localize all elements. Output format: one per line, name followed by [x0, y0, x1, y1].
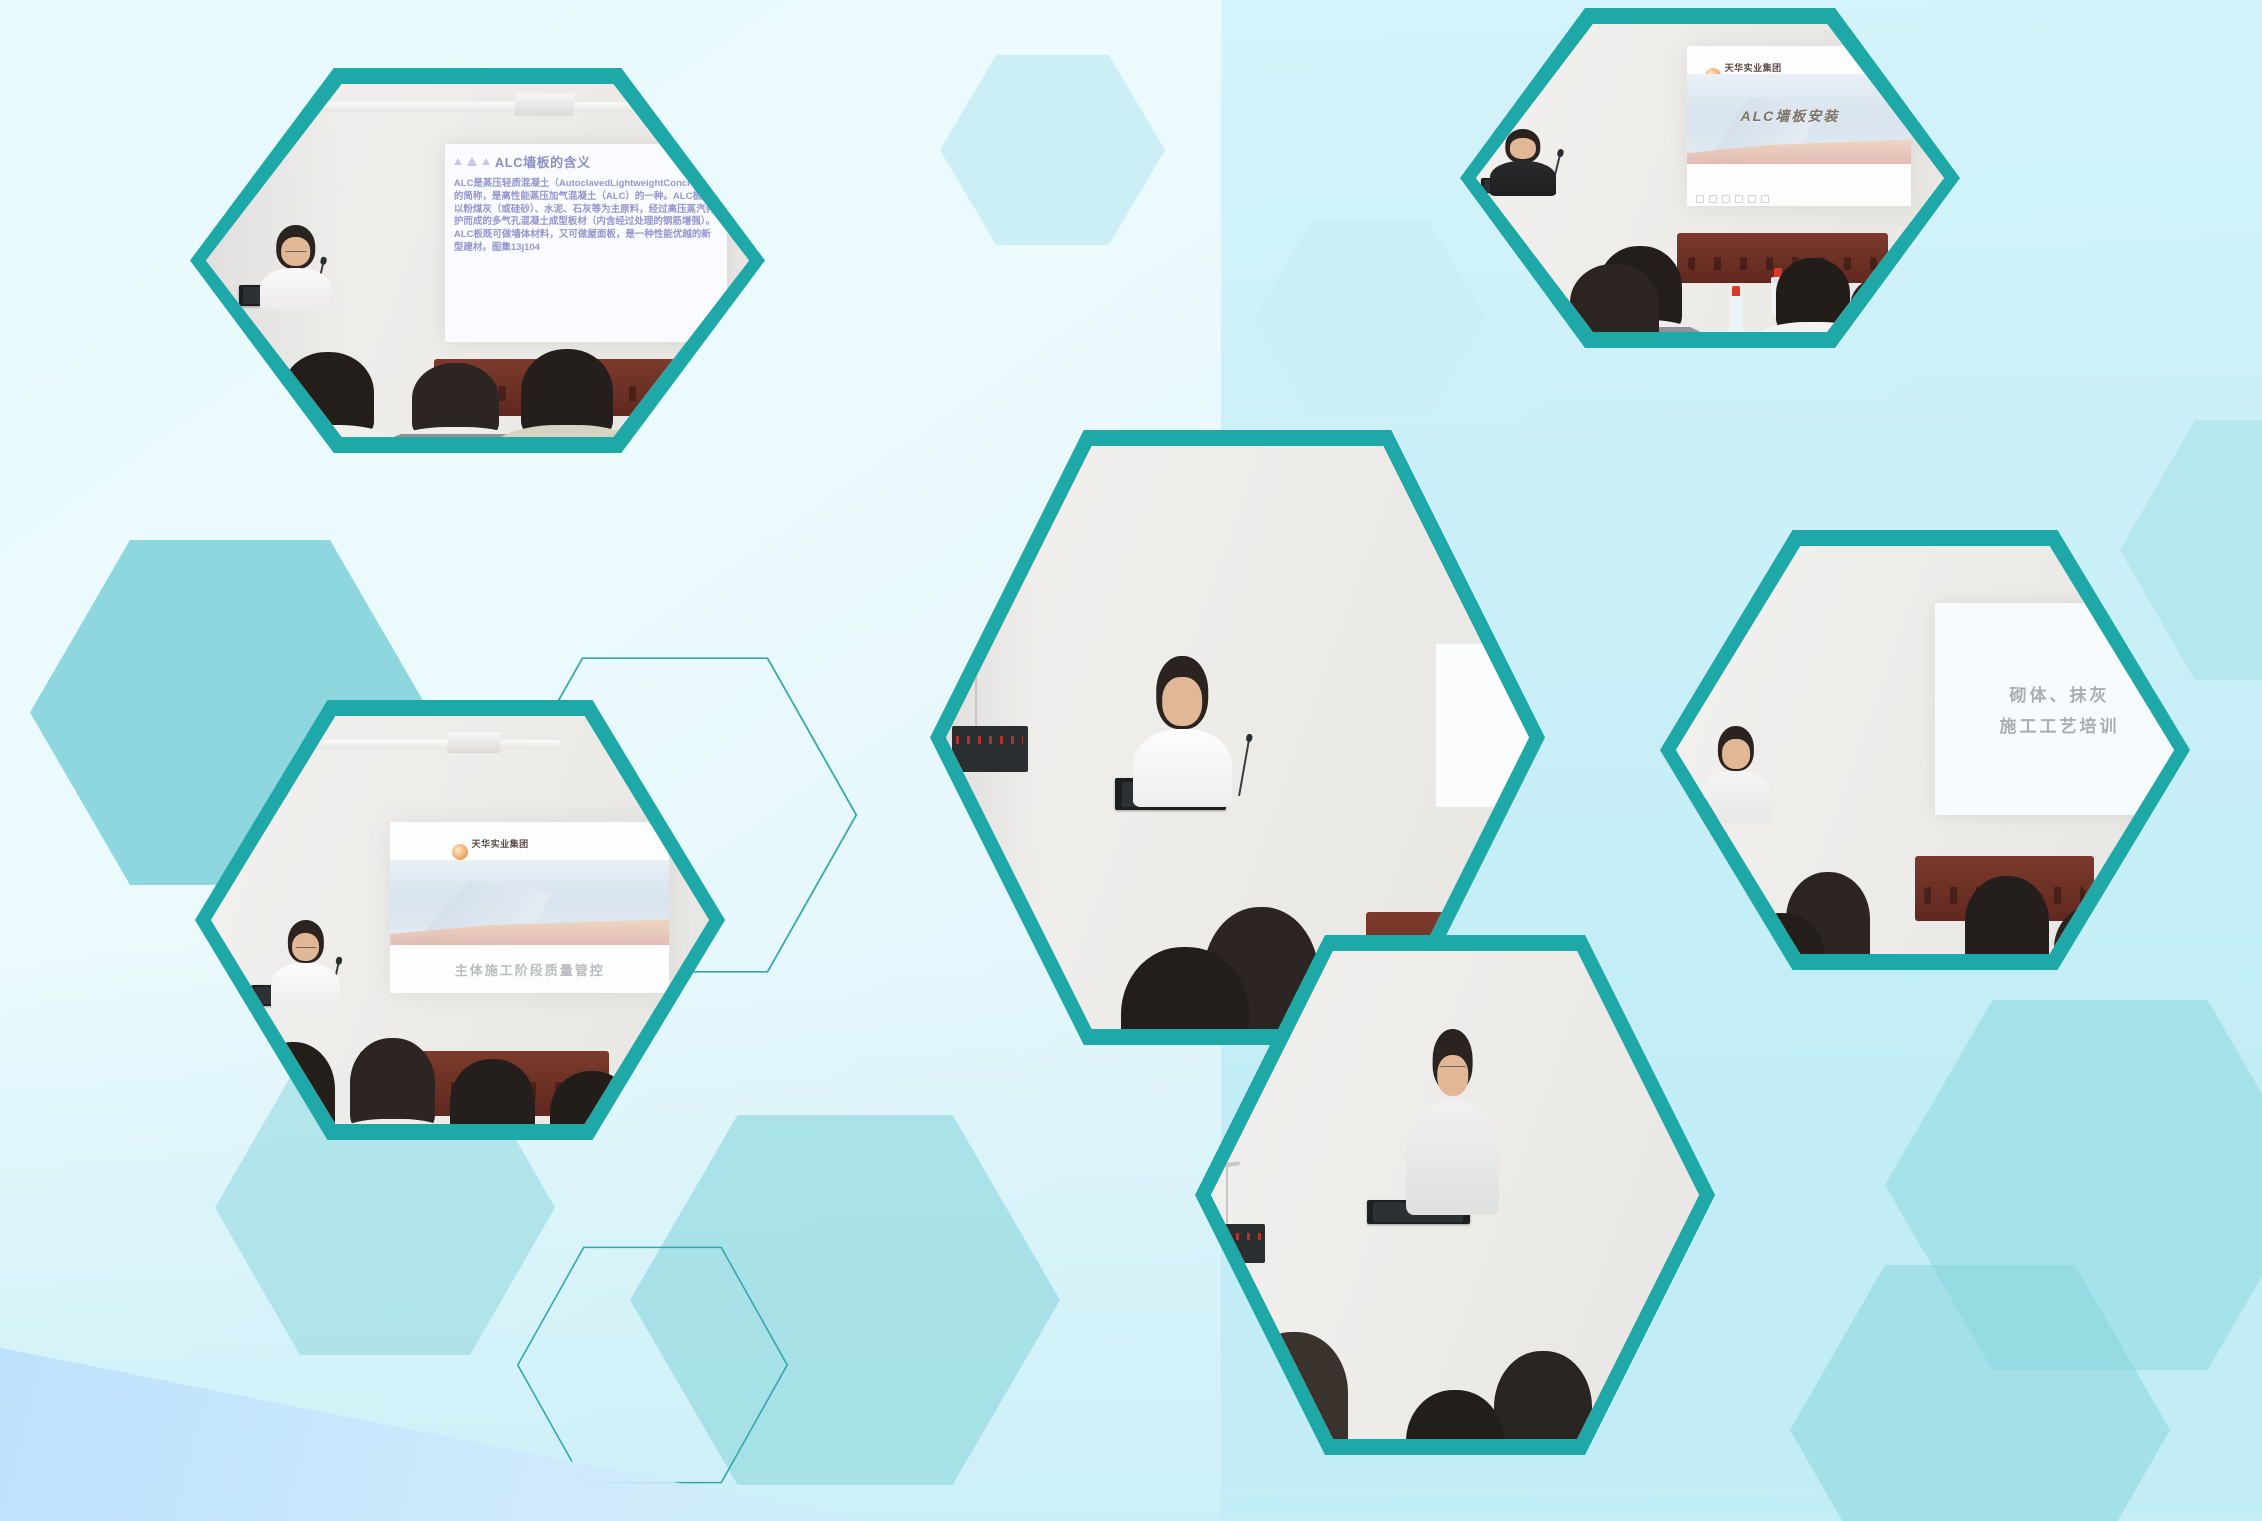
hex-photo-mid-left[interactable]: 天华实业集团 TIANHUA INDUSTRY GROUP 主体施工阶段质量管控	[195, 700, 725, 1140]
bg-hex-outline-bottom	[515, 1245, 790, 1485]
slide-body: ALC是蒸压轻质混凝土（AutoclavedLightweightConcret…	[454, 178, 718, 255]
torso	[260, 268, 331, 310]
slide-quality-control: 天华实业集团 TIANHUA INDUSTRY GROUP 主体施工阶段质量管控	[390, 822, 669, 993]
triangle-icon	[454, 158, 462, 165]
glasses-icon	[295, 947, 316, 952]
toolbar-icon	[1735, 195, 1743, 203]
logo-text: 天华实业集团	[1725, 63, 1782, 73]
hex-photo-top-right[interactable]: 天华实业集团 TIANHUA INDUSTRY GROUP ALC墙板安装	[1460, 8, 1960, 348]
hex-photo-bottom-center[interactable]	[1195, 935, 1715, 1455]
hex-photo-mid-right[interactable]: 砌体、抹灰 施工工艺培训 5	[1660, 530, 2190, 970]
triangle-icon	[482, 158, 490, 165]
toolbar-icon	[1761, 195, 1769, 203]
toolbar-icon	[1696, 195, 1704, 203]
hex-photo-top-left[interactable]: ALC墙板的含义 ALC是蒸压轻质混凝土（AutoclavedLightweig…	[190, 68, 765, 453]
slide-heading: ALC墙板的含义	[495, 152, 591, 171]
audience-head	[521, 349, 613, 437]
face	[1722, 739, 1750, 768]
ceiling-light	[231, 740, 560, 749]
audio-mixer	[952, 726, 1028, 773]
slide-band: 主体施工阶段质量管控	[390, 945, 669, 993]
glasses-icon	[1440, 1066, 1466, 1071]
slide-band-title: 主体施工阶段质量管控	[455, 960, 605, 979]
triangle-icon	[467, 157, 477, 166]
audience-head	[350, 1038, 435, 1124]
ppt-toolbar	[1696, 195, 1769, 203]
lamp-stand	[975, 621, 977, 738]
toolbar-icon	[1748, 195, 1756, 203]
logo-mark-icon	[452, 844, 468, 860]
water-bottle	[1729, 295, 1743, 332]
collage-canvas: ALC墙板的含义 ALC是蒸压轻质混凝土（AutoclavedLightweig…	[0, 0, 2262, 1521]
slide-script-title: ALC墙板安装	[1741, 106, 1840, 126]
chair-slots	[1688, 257, 1878, 270]
slide-masonry-training: 砌体、抹灰 施工工艺培训	[1935, 603, 2174, 815]
glasses-icon	[284, 251, 307, 256]
torso	[1133, 729, 1232, 808]
audience-head	[412, 363, 499, 437]
toolbar-icon	[1722, 195, 1730, 203]
presenter	[1406, 1029, 1499, 1214]
slide-line-1: 砌体、抹灰	[2009, 681, 2109, 706]
audience-head: ARC	[1965, 876, 2050, 954]
logo-text: 天华实业集团	[472, 839, 529, 849]
presenter	[271, 920, 341, 1010]
slide-line-2: 施工工艺培训	[1999, 712, 2119, 737]
toolbar-icon	[1709, 195, 1717, 203]
presenter	[260, 225, 331, 310]
presenter	[1133, 656, 1232, 808]
face	[1437, 1055, 1469, 1096]
torso	[271, 963, 341, 1010]
face	[1510, 138, 1536, 158]
face	[1162, 677, 1202, 726]
torso	[1490, 161, 1556, 196]
torso	[1406, 1100, 1499, 1215]
shoulders	[946, 1019, 1088, 1029]
